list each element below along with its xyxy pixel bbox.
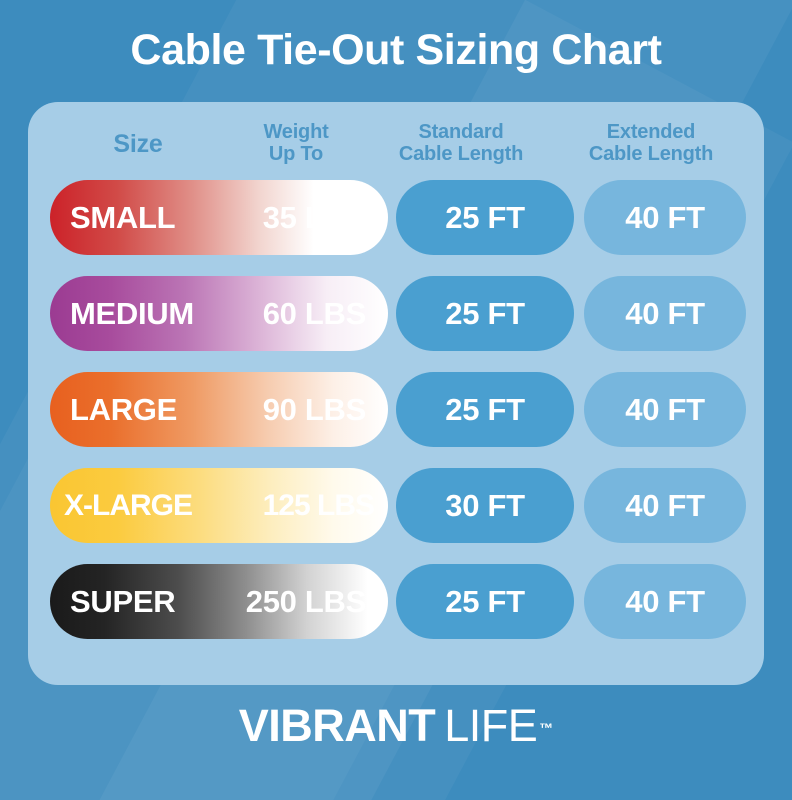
weight-value: 60 LBS [263, 276, 366, 351]
size-weight-pill: MEDIUM 60 LBS [50, 276, 388, 351]
logo-product-text: LIFE [444, 700, 537, 751]
size-weight-pill: SMALL 35 LBS [50, 180, 388, 255]
brand-logo: VIBRANTLIFE™ [0, 700, 792, 752]
column-header-weight-line2: Up To [226, 143, 366, 165]
standard-length-pill: 25 FT [396, 372, 574, 447]
column-header-standard: Standard Cable Length [366, 121, 556, 166]
column-header-weight-line1: Weight [263, 121, 328, 143]
table-header-row: Size Weight Up To Standard Cable Length … [28, 116, 764, 178]
extended-length-value: 40 FT [584, 564, 746, 639]
size-weight-pill: X-LARGE 125 LBS [50, 468, 388, 543]
column-header-size-line1: Size [113, 130, 162, 158]
table-row: MEDIUM 60 LBS 25 FT 40 FT [28, 276, 764, 351]
column-header-size: Size [50, 130, 226, 158]
column-header-extended-line1: Extended [607, 121, 695, 143]
weight-value: 90 LBS [263, 372, 366, 447]
standard-length-value: 25 FT [396, 180, 574, 255]
column-header-standard-line2: Cable Length [366, 143, 556, 165]
weight-value: 125 LBS [263, 468, 374, 543]
size-label: SMALL [70, 180, 175, 255]
table-row: SMALL 35 LBS 25 FT 40 FT [28, 180, 764, 255]
trademark-symbol: ™ [539, 720, 553, 736]
standard-length-value: 30 FT [396, 468, 574, 543]
table-body: SMALL 35 LBS 25 FT 40 FT MEDIUM 60 LBS 2… [28, 180, 764, 639]
size-label: LARGE [70, 372, 177, 447]
size-weight-pill: SUPER 250 LBS [50, 564, 388, 639]
extended-length-value: 40 FT [584, 276, 746, 351]
standard-length-pill: 25 FT [396, 180, 574, 255]
weight-value: 35 LBS [263, 180, 366, 255]
column-header-extended-line2: Cable Length [556, 143, 746, 165]
standard-length-value: 25 FT [396, 564, 574, 639]
extended-length-value: 40 FT [584, 468, 746, 543]
standard-length-value: 25 FT [396, 276, 574, 351]
extended-length-value: 40 FT [584, 372, 746, 447]
chart-panel: Size Weight Up To Standard Cable Length … [28, 102, 764, 685]
size-weight-pill: LARGE 90 LBS [50, 372, 388, 447]
standard-length-value: 25 FT [396, 372, 574, 447]
logo-brand-text: VIBRANT [239, 700, 436, 751]
extended-length-pill: 40 FT [584, 276, 746, 351]
page-title: Cable Tie-Out Sizing Chart [0, 26, 792, 75]
size-label: SUPER [70, 564, 175, 639]
table-row: SUPER 250 LBS 25 FT 40 FT [28, 564, 764, 639]
weight-value: 250 LBS [246, 564, 366, 639]
size-label: X-LARGE [64, 468, 192, 543]
sizing-chart: Cable Tie-Out Sizing Chart Size Weight U… [0, 0, 792, 800]
column-header-weight: Weight Up To [226, 121, 366, 166]
table-row: X-LARGE 125 LBS 30 FT 40 FT [28, 468, 764, 543]
extended-length-pill: 40 FT [584, 180, 746, 255]
extended-length-pill: 40 FT [584, 564, 746, 639]
extended-length-value: 40 FT [584, 180, 746, 255]
standard-length-pill: 25 FT [396, 564, 574, 639]
standard-length-pill: 30 FT [396, 468, 574, 543]
table-row: LARGE 90 LBS 25 FT 40 FT [28, 372, 764, 447]
column-header-extended: Extended Cable Length [556, 121, 746, 166]
size-label: MEDIUM [70, 276, 194, 351]
extended-length-pill: 40 FT [584, 468, 746, 543]
standard-length-pill: 25 FT [396, 276, 574, 351]
column-header-standard-line1: Standard [418, 121, 503, 143]
extended-length-pill: 40 FT [584, 372, 746, 447]
